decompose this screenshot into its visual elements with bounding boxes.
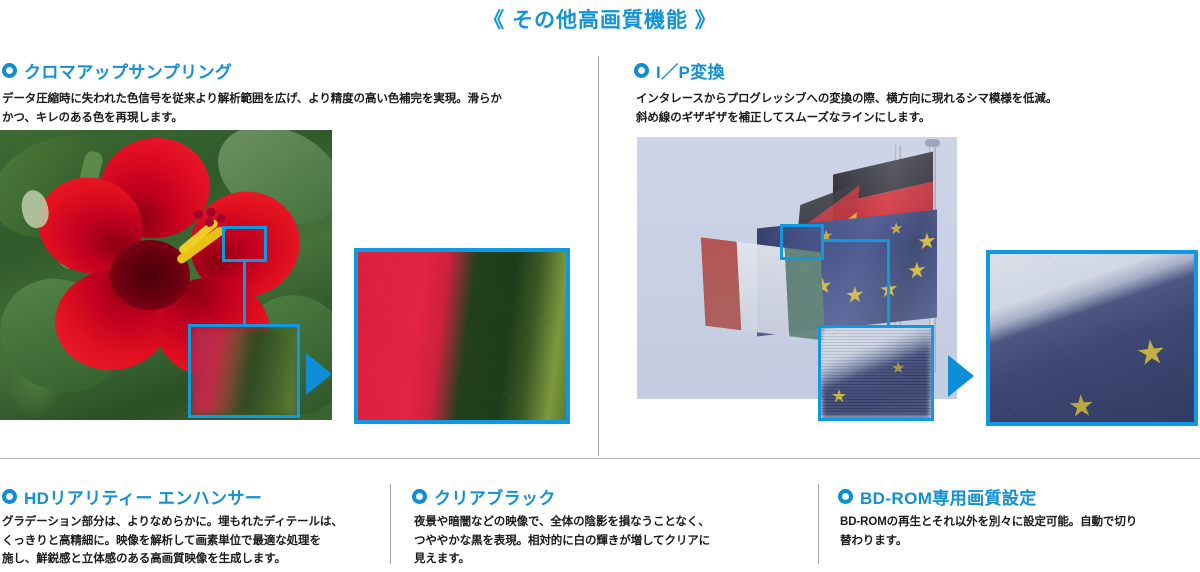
section-body-bd-rom-picture-setting: BD-ROMの再生とそれ以外を別々に設定可能。自動で切り 替わります。 [840, 513, 1200, 550]
ring-bullet-icon [838, 489, 853, 504]
callout-connector-flag-h [823, 239, 890, 242]
callout-connector-flag-v [887, 239, 890, 327]
section-heading-clear-black: クリアブラック [412, 484, 556, 509]
horizontal-divider [0, 458, 1200, 459]
section-heading-bd-rom-picture-setting: BD-ROM専用画質設定 [838, 484, 1037, 509]
section-body-ip-conversion: インタレースからプログレッシブへの変換の際、横方向に現れるシマ模様を低減。 斜め… [636, 90, 1196, 127]
ring-bullet-icon [412, 489, 427, 504]
callout-connector-flower [243, 259, 246, 326]
body-line: BD-ROMの再生とそれ以外を別々に設定可能。自動で切り [840, 513, 1200, 532]
section-body-clear-black: 夜景や暗闇などの映像で、全体の陰影を損なうことなく、 つややかな黒を表現。相対的… [414, 513, 804, 569]
detail-panel-after-flag: ★ ★ [986, 250, 1198, 426]
body-line: グラデーション部分は、よりなめらかに。埋もれたディテールは、 [2, 513, 382, 532]
ring-bullet-icon [2, 63, 17, 78]
section-title-clear-black: クリアブラック [434, 484, 556, 509]
zoom-callout-rectangle-flag [780, 224, 824, 260]
ring-bullet-icon [634, 63, 649, 78]
body-line: インタレースからプログレッシブへの変換の際、横方向に現れるシマ模様を低減。 [636, 90, 1196, 109]
detail-panel-after-flower [354, 248, 570, 424]
section-body-chroma-upsampling: データ圧縮時に失われた色信号を従来より解析範囲を広げ、より精度の高い色補完を実現… [2, 90, 592, 127]
section-heading-ip-conversion: I／P変換 [634, 58, 725, 83]
body-line: 施し、鮮鋭感と立体感のある高画質映像を生成します。 [2, 550, 382, 569]
vertical-divider-bottom-1 [390, 484, 391, 564]
body-line: つややかな黒を表現。相対的に白の輝きが増してクリアに [414, 532, 804, 551]
right-triangle-arrow-icon-flag [948, 355, 974, 397]
vertical-divider-bottom-2 [818, 484, 819, 564]
body-line: データ圧縮時に失われた色信号を従来より解析範囲を広げ、より精度の高い色補完を実現… [2, 90, 592, 109]
page-title: 《 その他高画質機能 》 [0, 4, 1200, 34]
section-heading-chroma-upsampling: クロマアップサンプリング [2, 58, 232, 83]
body-line: くっきりと高精細に。映像を解析して画素単位で最適な処理を [2, 532, 382, 551]
feature-page: 《 その他高画質機能 》 クロマアップサンプリング データ圧縮時に失われた色信号… [0, 0, 1200, 572]
vertical-divider-main [598, 56, 599, 456]
body-line: かつ、キレのある色を再現します。 [2, 109, 592, 128]
ring-bullet-icon [2, 489, 17, 504]
right-triangle-arrow-icon-flower [306, 353, 332, 395]
section-heading-hd-reality-enhancer: HDリアリティー エンハンサー [2, 484, 262, 509]
body-line: 替わります。 [840, 532, 1200, 551]
section-title-ip-conversion: I／P変換 [656, 58, 725, 83]
section-title-bd-rom-picture-setting: BD-ROM専用画質設定 [860, 484, 1037, 509]
detail-panel-before-flower [188, 324, 300, 418]
body-line: 斜め線のギザギザを補正してスムーズなラインにします。 [636, 109, 1196, 128]
section-body-hd-reality-enhancer: グラデーション部分は、よりなめらかに。埋もれたディテールは、 くっきりと高精細に… [2, 513, 382, 569]
section-title-chroma-upsampling: クロマアップサンプリング [24, 58, 232, 83]
zoom-callout-rectangle-flower [222, 226, 267, 262]
detail-panel-before-flag: ★ ★ [818, 325, 934, 421]
body-line: 夜景や暗闇などの映像で、全体の陰影を損なうことなく、 [414, 513, 804, 532]
section-title-hd-reality-enhancer: HDリアリティー エンハンサー [24, 484, 262, 509]
body-line: 見えます。 [414, 550, 804, 569]
